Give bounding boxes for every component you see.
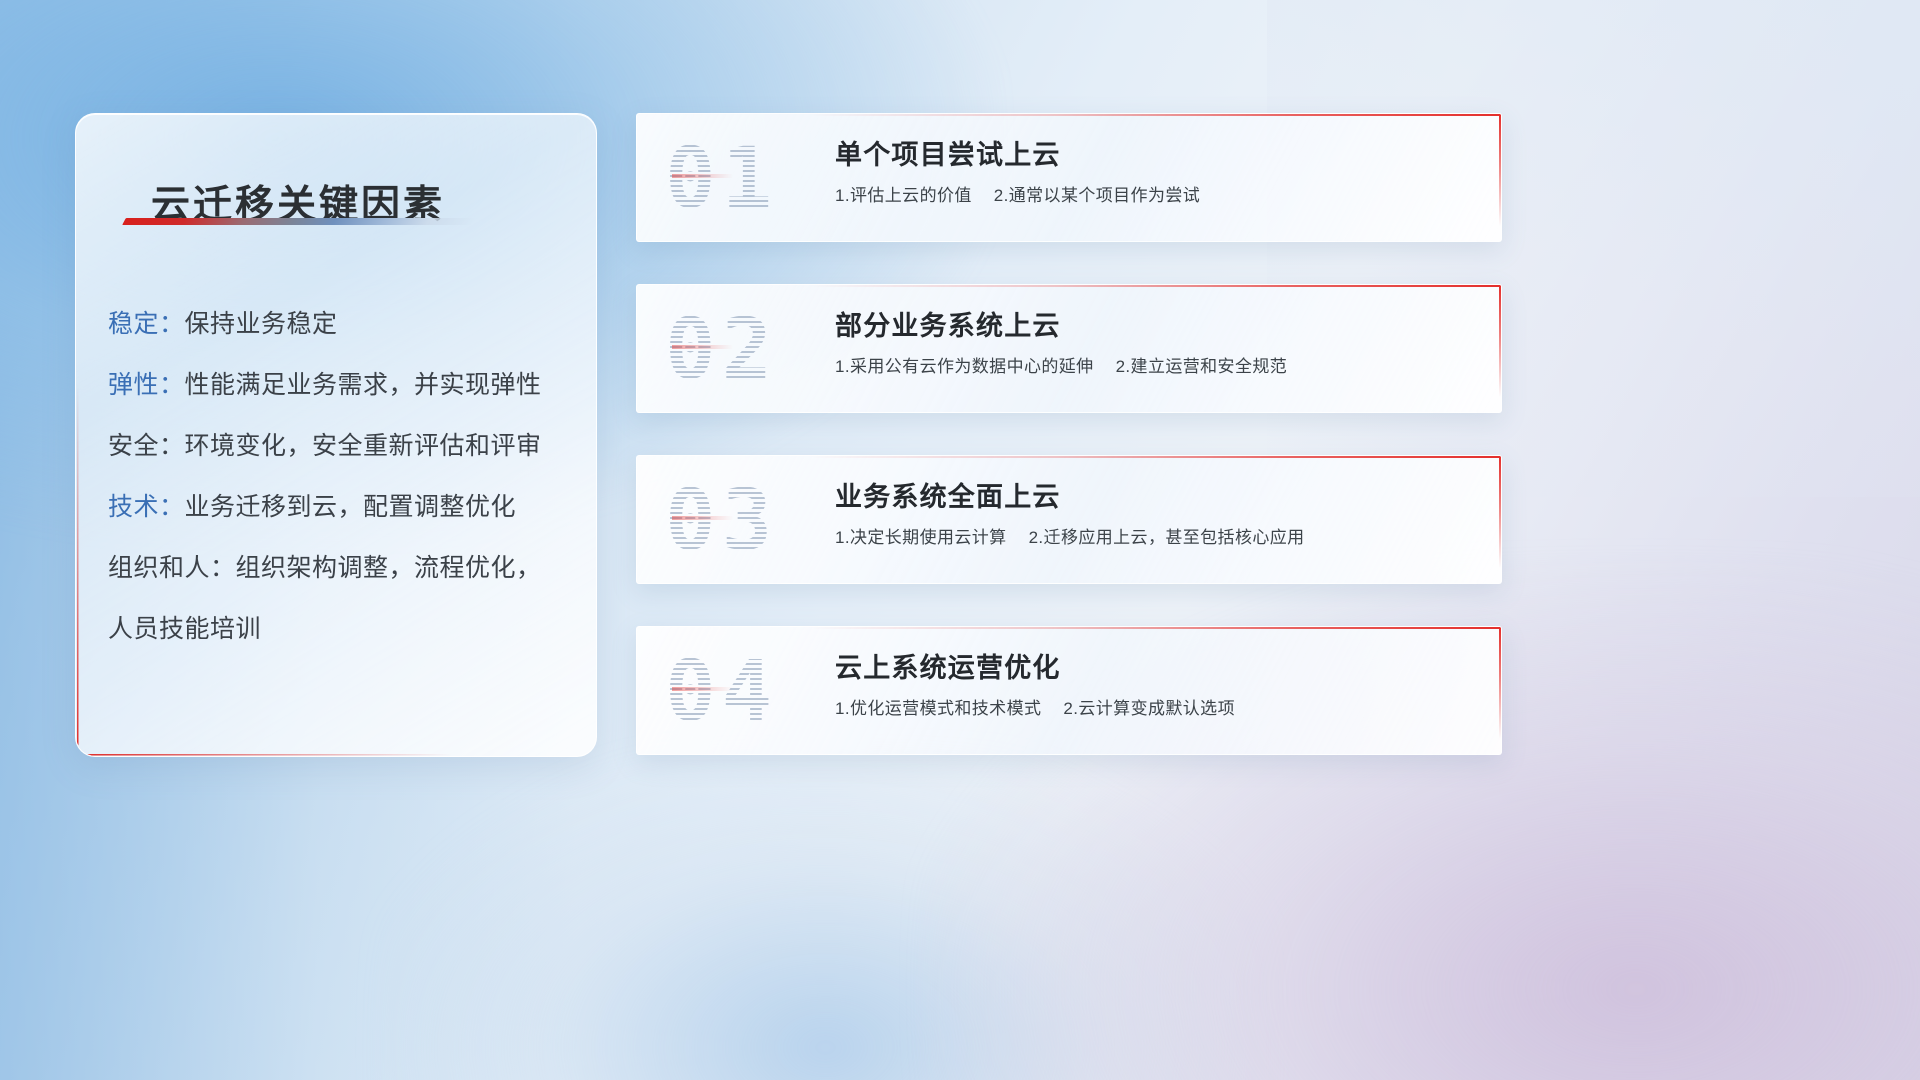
stage-point-2: 2.云计算变成默认选项 bbox=[1063, 699, 1235, 718]
factor-text: 组织架构调整，流程优化， bbox=[236, 554, 542, 582]
key-factors-list: 稳定：保持业务稳定 弹性：性能满足业务需求，并实现弹性 安全：环境变化，安全重新… bbox=[108, 294, 578, 660]
stage-number-watermark: 02 bbox=[665, 300, 778, 398]
stage-heading: 部分业务系统上云 bbox=[835, 307, 1477, 345]
stage-points: 1.优化运营模式和技术模式2.云计算变成默认选项 bbox=[835, 697, 1477, 721]
stage-point-2: 2.建立运营和安全规范 bbox=[1116, 357, 1288, 376]
stage-number-watermark: 04 bbox=[665, 642, 778, 740]
list-item: 安全：环境变化，安全重新评估和评审 bbox=[108, 416, 578, 477]
stage-point-2: 2.通常以某个项目作为尝试 bbox=[994, 186, 1200, 205]
stage-body: 单个项目尝试上云 1.评估上云的价值2.通常以某个项目作为尝试 bbox=[835, 136, 1477, 208]
migration-stages-list: 01 单个项目尝试上云 1.评估上云的价值2.通常以某个项目作为尝试 02 部分… bbox=[636, 113, 1500, 797]
stage-point-1: 1.决定长期使用云计算 bbox=[835, 528, 1007, 547]
stage-points: 1.评估上云的价值2.通常以某个项目作为尝试 bbox=[835, 184, 1477, 208]
stage-card[interactable]: 02 部分业务系统上云 1.采用公有云作为数据中心的延伸2.建立运营和安全规范 bbox=[636, 284, 1502, 413]
factor-text-continuation: 人员技能培训 bbox=[108, 599, 578, 660]
factor-label: 安全： bbox=[108, 432, 185, 460]
key-factors-panel: 云迁移关键因素 稳定：保持业务稳定 弹性：性能满足业务需求，并实现弹性 安全：环… bbox=[75, 113, 597, 757]
stage-card[interactable]: 01 单个项目尝试上云 1.评估上云的价值2.通常以某个项目作为尝试 bbox=[636, 113, 1502, 242]
factor-text: 保持业务稳定 bbox=[185, 310, 338, 338]
factor-label: 组织和人： bbox=[108, 554, 236, 582]
stage-body: 业务系统全面上云 1.决定长期使用云计算2.迁移应用上云，甚至包括核心应用 bbox=[835, 478, 1477, 550]
factor-label: 技术： bbox=[108, 493, 185, 521]
stage-heading: 业务系统全面上云 bbox=[835, 478, 1477, 516]
stage-accent-bar bbox=[809, 310, 812, 388]
factor-label: 弹性： bbox=[108, 371, 185, 399]
title-underline-gradient bbox=[122, 218, 476, 225]
stage-body: 云上系统运营优化 1.优化运营模式和技术模式2.云计算变成默认选项 bbox=[835, 649, 1477, 721]
list-item: 弹性：性能满足业务需求，并实现弹性 bbox=[108, 355, 578, 416]
stage-accent-bar bbox=[809, 652, 812, 730]
list-item: 技术：业务迁移到云，配置调整优化 bbox=[108, 477, 578, 538]
factor-text: 性能满足业务需求，并实现弹性 bbox=[185, 371, 542, 399]
stage-number-watermark: 03 bbox=[665, 471, 778, 569]
stage-body: 部分业务系统上云 1.采用公有云作为数据中心的延伸2.建立运营和安全规范 bbox=[835, 307, 1477, 379]
stage-accent-bar bbox=[809, 139, 812, 217]
stage-card[interactable]: 03 业务系统全面上云 1.决定长期使用云计算2.迁移应用上云，甚至包括核心应用 bbox=[636, 455, 1502, 584]
stage-point-1: 1.采用公有云作为数据中心的延伸 bbox=[835, 357, 1094, 376]
list-item: 组织和人：组织架构调整，流程优化， bbox=[108, 538, 578, 599]
stage-points: 1.采用公有云作为数据中心的延伸2.建立运营和安全规范 bbox=[835, 355, 1477, 379]
stage-accent-bar bbox=[809, 481, 812, 559]
factor-text: 业务迁移到云，配置调整优化 bbox=[185, 493, 517, 521]
stage-card[interactable]: 04 云上系统运营优化 1.优化运营模式和技术模式2.云计算变成默认选项 bbox=[636, 626, 1502, 755]
factor-text: 环境变化，安全重新评估和评审 bbox=[185, 432, 542, 460]
stage-heading: 云上系统运营优化 bbox=[835, 649, 1477, 687]
stage-point-2: 2.迁移应用上云，甚至包括核心应用 bbox=[1029, 528, 1305, 547]
stage-heading: 单个项目尝试上云 bbox=[835, 136, 1477, 174]
stage-point-1: 1.评估上云的价值 bbox=[835, 186, 972, 205]
stage-point-1: 1.优化运营模式和技术模式 bbox=[835, 699, 1041, 718]
list-item: 稳定：保持业务稳定 bbox=[108, 294, 578, 355]
stage-number-watermark: 01 bbox=[665, 129, 778, 227]
stage-points: 1.决定长期使用云计算2.迁移应用上云，甚至包括核心应用 bbox=[835, 526, 1477, 550]
factor-label: 稳定： bbox=[108, 310, 185, 338]
